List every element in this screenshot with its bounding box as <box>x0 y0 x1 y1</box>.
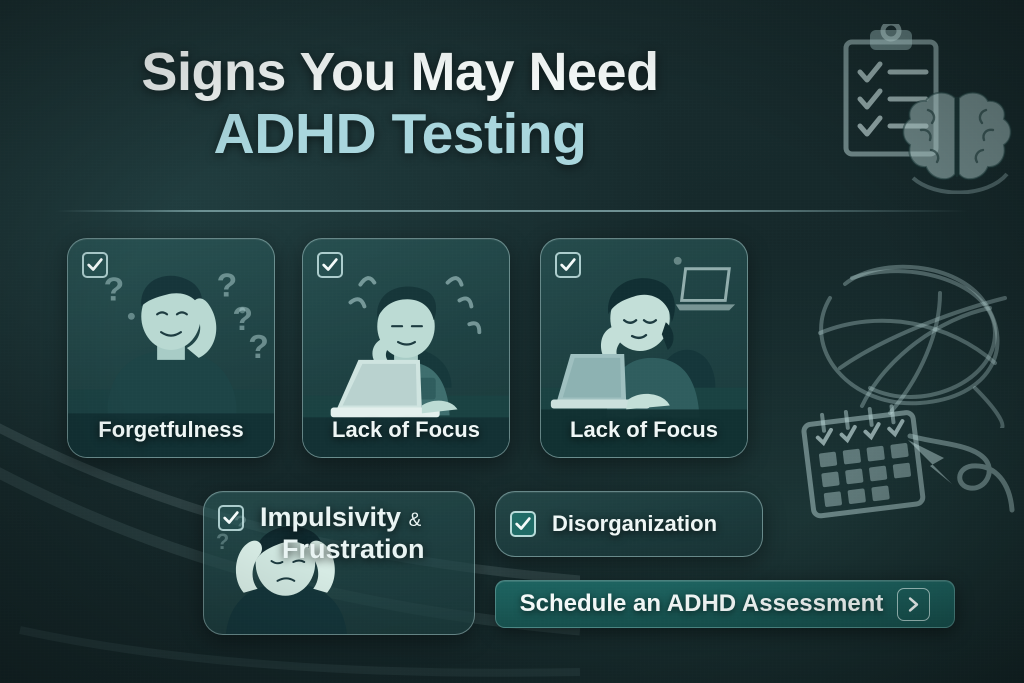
sign-card-disorganization[interactable]: Disorganization <box>495 491 763 557</box>
check-icon <box>86 256 104 274</box>
sign-card-lack-of-focus-1[interactable]: Lack of Focus <box>302 238 510 458</box>
divider-line <box>56 210 968 212</box>
curly-arrow <box>900 418 1020 548</box>
card-checkbox[interactable] <box>218 505 244 531</box>
card-checkbox[interactable] <box>555 252 581 278</box>
check-icon <box>222 509 240 527</box>
clipboard-checklist-icon <box>838 24 950 164</box>
impulsivity-line-1: Impulsivity <box>260 502 401 532</box>
check-icon <box>321 256 339 274</box>
card-label: Lack of Focus <box>541 417 747 443</box>
title-line-1: Signs You May Need <box>0 44 800 101</box>
impulsivity-line-2: Frustration <box>282 534 464 566</box>
calendar-icon <box>790 402 940 520</box>
title-line-2: ADHD Testing <box>0 103 800 167</box>
page-title: Signs You May Need ADHD Testing <box>0 44 800 167</box>
brain-icon <box>895 82 1019 194</box>
card-checkbox[interactable] <box>317 252 343 278</box>
card-label: Lack of Focus <box>303 417 509 443</box>
svg-text:?: ? <box>248 329 269 366</box>
svg-text:?: ? <box>217 267 238 304</box>
ampersand: & <box>409 510 422 531</box>
svg-text:?: ? <box>216 529 229 554</box>
sign-card-forgetfulness[interactable]: ? ? ? ? <box>67 238 275 458</box>
card-checkbox[interactable] <box>82 252 108 278</box>
check-icon <box>514 515 532 533</box>
sign-card-lack-of-focus-2[interactable]: Lack of Focus <box>540 238 748 458</box>
card-label: Disorganization <box>552 511 717 537</box>
card-label: Forgetfulness <box>68 417 274 443</box>
sign-card-impulsivity-frustration[interactable]: ? ? <box>203 491 475 635</box>
impulsivity-label: Impulsivity & Frustration <box>260 502 464 566</box>
card-checkbox[interactable] <box>510 511 536 537</box>
schedule-assessment-button[interactable]: Schedule an ADHD Assessment <box>495 580 955 628</box>
tangled-scribble-knot <box>790 238 1020 428</box>
infographic-canvas: Signs You May Need ADHD Testing ? ? ? ? <box>0 0 1024 683</box>
svg-text:?: ? <box>104 271 125 308</box>
cta-label: Schedule an ADHD Assessment <box>520 590 884 618</box>
check-icon <box>559 256 577 274</box>
chevron-right-icon[interactable] <box>897 588 930 621</box>
